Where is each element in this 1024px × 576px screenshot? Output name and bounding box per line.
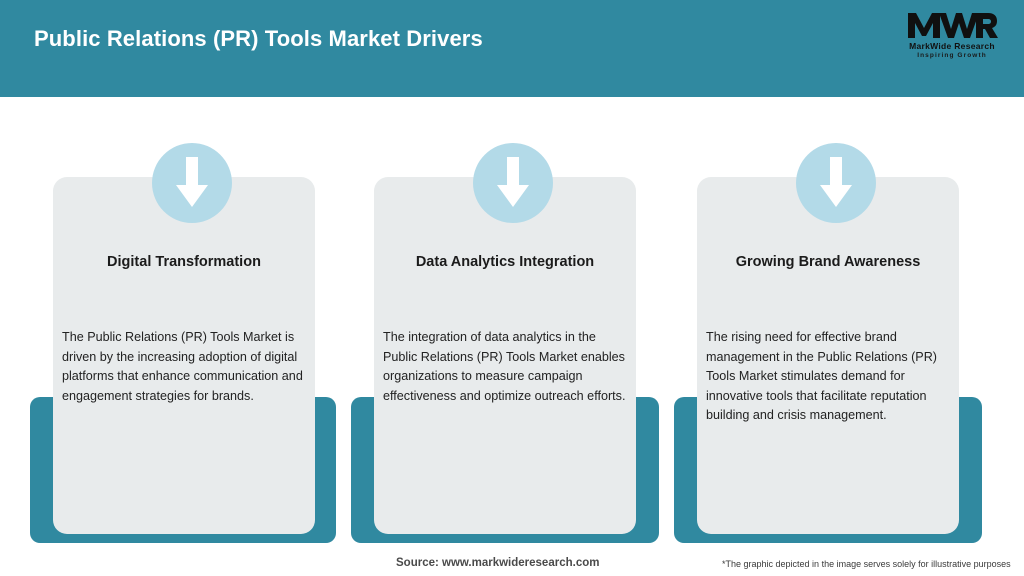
card-title: Data Analytics Integration (374, 254, 636, 270)
disclaimer-note: *The graphic depicted in the image serve… (722, 559, 1011, 569)
driver-card-1[interactable]: Digital Transformation The Public Relati… (22, 143, 336, 543)
card-body-text: The Public Relations (PR) Tools Market i… (62, 328, 310, 406)
card-body-text: The rising need for effective brand mana… (706, 328, 954, 426)
card-title: Growing Brand Awareness (697, 254, 959, 270)
driver-card-2[interactable]: Data Analytics Integration The integrati… (345, 143, 659, 543)
arrow-down-icon (473, 143, 553, 223)
source-label: Source: www.markwideresearch.com (396, 557, 599, 569)
card-title: Digital Transformation (53, 254, 315, 270)
driver-cards-container: Digital Transformation The Public Relati… (0, 0, 1024, 576)
driver-card-3[interactable]: Growing Brand Awareness The rising need … (668, 143, 982, 543)
arrow-down-icon (796, 143, 876, 223)
arrow-down-icon (152, 143, 232, 223)
card-body-text: The integration of data analytics in the… (383, 328, 631, 406)
